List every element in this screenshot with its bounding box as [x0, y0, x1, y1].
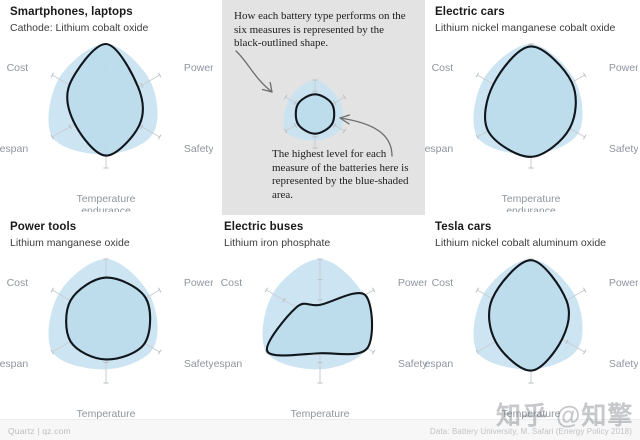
svg-text:Lifespan: Lifespan: [0, 143, 28, 155]
chart-cell-smartphones-laptops: Smartphones, laptops Cathode: Lithium co…: [0, 0, 213, 215]
footer-source: Data: Battery University, M. Safari (Ene…: [430, 427, 632, 436]
chart-title-electric-buses: Electric buses: [224, 221, 303, 233]
svg-text:Cost: Cost: [432, 62, 454, 74]
chart-subtitle-tesla-cars: Lithium nickel cobalt aluminum oxide: [435, 237, 606, 249]
svg-text:Safety: Safety: [184, 143, 213, 155]
footer-bar: Quartz | qz.com Data: Battery University…: [0, 419, 640, 440]
svg-text:Cost: Cost: [221, 277, 243, 289]
svg-text:Lifespan: Lifespan: [425, 143, 453, 155]
svg-text:Temperatureendurance: Temperatureendurance: [77, 193, 136, 212]
chart-title-smartphones-laptops: Smartphones, laptops: [10, 6, 133, 18]
chart-cell-power-tools: Power tools Lithium manganese oxide Ener…: [0, 215, 213, 430]
chart-title-power-tools: Power tools: [10, 221, 76, 233]
radar-chart-power-tools: EnergyPowerSafetyTemperatureenduranceLif…: [0, 249, 213, 427]
svg-text:Cost: Cost: [432, 277, 454, 289]
annotation-arrow-top: [232, 48, 302, 110]
svg-text:Power: Power: [184, 62, 213, 74]
svg-text:Lifespan: Lifespan: [425, 358, 453, 370]
infographic-canvas: Smartphones, laptops Cathode: Lithium co…: [0, 0, 640, 440]
chart-title-electric-cars: Electric cars: [435, 6, 505, 18]
svg-text:Power: Power: [609, 277, 638, 289]
svg-text:Safety: Safety: [609, 358, 638, 370]
svg-text:Safety: Safety: [398, 358, 427, 370]
chart-subtitle-electric-buses: Lithium iron phosphate: [224, 237, 330, 249]
svg-text:Lifespan: Lifespan: [214, 358, 242, 370]
chart-cell-tesla-cars: Tesla cars Lithium nickel cobalt aluminu…: [425, 215, 638, 430]
radar-chart-electric-buses: EnergyPowerSafetyTemperatureenduranceLif…: [214, 249, 427, 427]
annotation-arrow-bottom: [336, 104, 396, 160]
chart-title-tesla-cars: Tesla cars: [435, 221, 491, 233]
svg-text:Cost: Cost: [7, 277, 29, 289]
svg-text:Power: Power: [184, 277, 213, 289]
radar-chart-smartphones-laptops: EnergyPowerSafetyTemperatureenduranceLif…: [0, 34, 213, 212]
radar-chart-electric-cars: EnergyPowerSafetyTemperatureenduranceLif…: [425, 34, 638, 212]
svg-text:Temperatureendurance: Temperatureendurance: [502, 193, 561, 212]
svg-text:Safety: Safety: [609, 143, 638, 155]
chart-cell-electric-cars: Electric cars Lithium nickel manganese c…: [425, 0, 638, 215]
svg-text:Power: Power: [609, 62, 638, 74]
chart-subtitle-power-tools: Lithium manganese oxide: [10, 237, 130, 249]
footer-credit: Quartz | qz.com: [8, 426, 71, 436]
chart-subtitle-smartphones-laptops: Cathode: Lithium cobalt oxide: [10, 22, 148, 34]
svg-text:Power: Power: [398, 277, 427, 289]
radar-chart-tesla-cars: EnergyPowerSafetyTemperatureenduranceLif…: [425, 249, 638, 427]
annotation-text-top: How each battery type performs on the si…: [234, 10, 414, 51]
chart-subtitle-electric-cars: Lithium nickel manganese cobalt oxide: [435, 22, 615, 34]
svg-text:Lifespan: Lifespan: [0, 358, 28, 370]
chart-cell-electric-buses: Electric buses Lithium iron phosphate En…: [214, 215, 427, 430]
svg-text:Safety: Safety: [184, 358, 213, 370]
svg-text:Cost: Cost: [7, 62, 29, 74]
